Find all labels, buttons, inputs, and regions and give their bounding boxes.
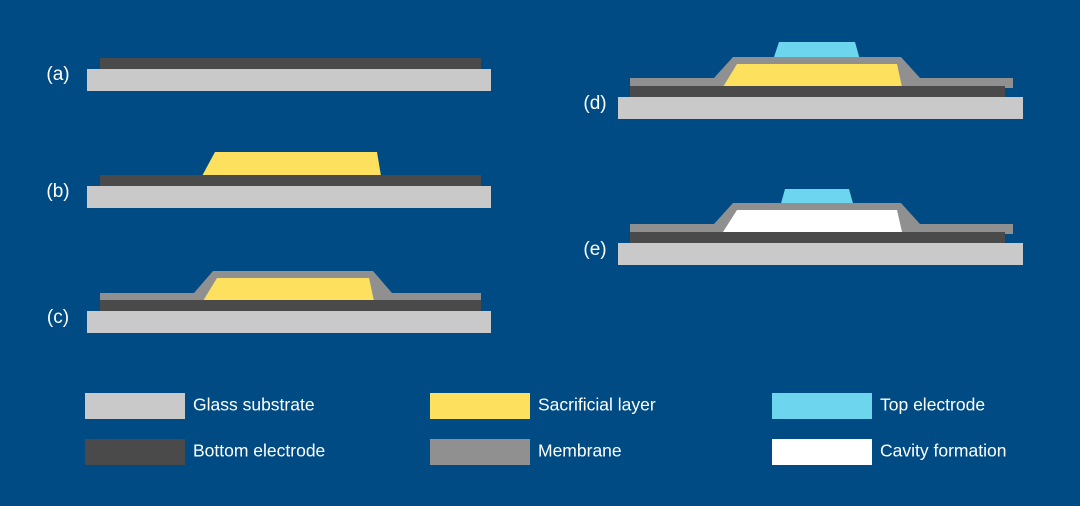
legend-label-sacrificial-layer: Sacrificial layer — [538, 395, 656, 415]
legend-swatch-membrane — [430, 439, 530, 465]
panel-e-bottom-electrode — [630, 232, 1005, 243]
panel-e: (e) — [583, 189, 1023, 265]
panel-a-bottom-electrode — [100, 58, 481, 69]
legend-swatch-sacrificial-layer — [430, 393, 530, 419]
legend: Glass substrate Bottom electrode Sacrifi… — [85, 393, 1006, 465]
panel-c-bottom-electrode — [100, 300, 481, 311]
legend-swatch-top-electrode — [772, 393, 872, 419]
panel-a-label: (a) — [46, 64, 69, 85]
panel-d-glass-substrate — [618, 97, 1023, 119]
legend-item-sacrificial-layer: Sacrificial layer — [430, 393, 656, 419]
panel-d-bottom-electrode — [630, 86, 1005, 97]
legend-item-membrane: Membrane — [430, 439, 622, 465]
panel-b-bottom-electrode — [100, 175, 481, 186]
legend-swatch-glass-substrate — [85, 393, 185, 419]
panel-c-label: (c) — [47, 307, 69, 328]
panel-b-sacrificial-layer — [202, 152, 381, 176]
panel-c-glass-substrate — [87, 311, 491, 333]
process-flow-diagram: (a) (b) (c) — [0, 0, 1080, 506]
panel-e-glass-substrate — [618, 243, 1023, 265]
panel-b: (b) — [46, 152, 491, 208]
panel-d: (d) — [583, 42, 1023, 119]
legend-item-bottom-electrode: Bottom electrode — [85, 439, 325, 465]
figure-canvas: (a) (b) (c) — [0, 0, 1080, 506]
panel-e-label: (e) — [583, 239, 606, 260]
legend-label-top-electrode: Top electrode — [880, 395, 985, 415]
legend-label-membrane: Membrane — [538, 441, 622, 461]
panel-c-sacrificial-layer — [203, 278, 374, 301]
legend-label-bottom-electrode: Bottom electrode — [193, 441, 325, 461]
legend-swatch-bottom-electrode — [85, 439, 185, 465]
panel-c: (c) — [47, 271, 491, 333]
panel-b-label: (b) — [46, 181, 69, 202]
legend-label-glass-substrate: Glass substrate — [193, 395, 315, 415]
panel-e-cavity-formation — [723, 210, 902, 232]
panel-a-glass-substrate — [87, 69, 491, 91]
panel-a: (a) — [46, 58, 491, 91]
panel-d-sacrificial-layer — [723, 64, 902, 87]
legend-swatch-cavity-formation — [772, 439, 872, 465]
panel-b-glass-substrate — [87, 186, 491, 208]
legend-item-glass-substrate: Glass substrate — [85, 393, 315, 419]
legend-label-cavity-formation: Cavity formation — [880, 441, 1006, 461]
panel-d-label: (d) — [583, 93, 606, 114]
legend-item-top-electrode: Top electrode — [772, 393, 985, 419]
legend-item-cavity-formation: Cavity formation — [772, 439, 1006, 465]
